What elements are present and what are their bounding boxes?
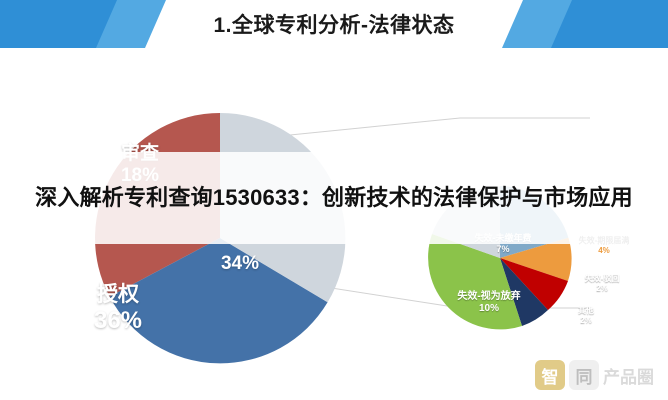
slice-label-shiweifangqi: 失效-视为放弃 10% [443,291,535,315]
watermark-logo-2: 同 [569,360,599,390]
headline-text: 深入解析专利查询1530633：创新技术的法律保护与市场应用 [34,182,634,214]
leader-line-top [280,118,590,136]
slice-label-gongkai: 34% [200,253,280,275]
watermark: 智 同 产品圈 [535,360,654,390]
slice-label-shouquan: 授权 36% [68,283,168,335]
watermark-logo-1: 智 [535,360,565,390]
slice-label-qita: 其他 2% [556,306,616,325]
chart-page: 1.全球专利分析-法律状态 [0,0,668,400]
slice-label-bohui: 失效-驳回 2% [556,274,648,293]
page-title: 1.全球专利分析-法律状态 [0,0,668,48]
watermark-text: 产品圈 [603,363,654,388]
headline-overlay: 深入解析专利查询1530633：创新技术的法律保护与市场应用 [0,152,668,244]
